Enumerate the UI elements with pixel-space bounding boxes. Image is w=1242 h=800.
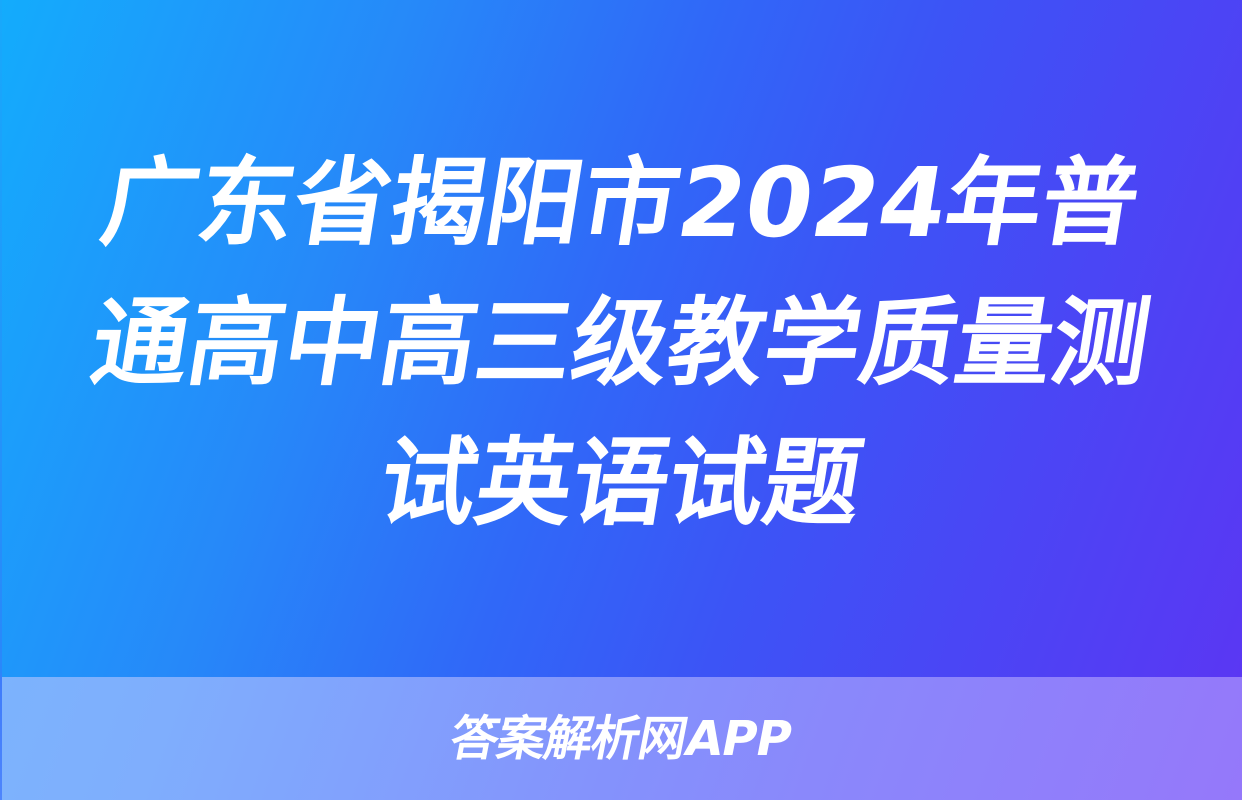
page-title: 广东省揭阳市2024年普 通高中高三级教学质量测 试英语试题	[0, 0, 1242, 677]
page-title-line-3: 试英语试题	[370, 413, 872, 553]
left-edge-rule	[0, 0, 2, 800]
page-title-line-2: 通高中高三级教学质量测	[82, 273, 1160, 413]
page-title-line-1: 广东省揭阳市2024年普	[92, 133, 1149, 273]
hero-gradient-banner: 广东省揭阳市2024年普 通高中高三级教学质量测 试英语试题	[0, 0, 1242, 677]
brand-watermark: 答案解析网APP	[447, 715, 796, 763]
footer-watermark-band: 答案解析网APP	[0, 677, 1242, 800]
poster-canvas: 广东省揭阳市2024年普 通高中高三级教学质量测 试英语试题 答案解析网APP	[0, 0, 1242, 800]
